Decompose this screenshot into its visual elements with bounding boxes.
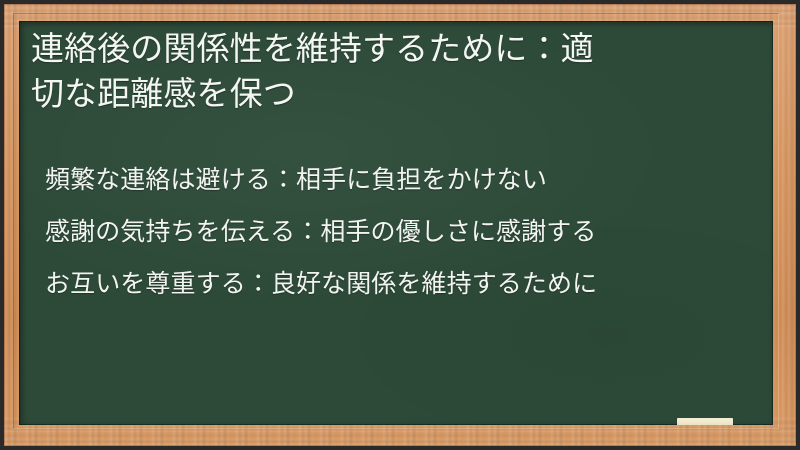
- slide-title-line-2: 切な距離感を保つ: [31, 74, 296, 113]
- bullet-item-1-label: 頻繁な連絡は避ける：相手に負担をかけない: [45, 167, 547, 192]
- slide-title-line-1: 連絡後の関係性を維持するために：適: [31, 29, 594, 68]
- bullet-item-2-label: 感謝の気持ちを伝える：相手の優しさに感謝する: [45, 219, 596, 244]
- chalk-piece-icon: [677, 418, 733, 425]
- bullet-item-3: お互いを尊重する：良好な関係を維持するために: [45, 257, 771, 309]
- bullet-item-2: 感謝の気持ちを伝える：相手の優しさに感謝する: [45, 205, 771, 257]
- slide-stage: 連絡後の関係性を維持するために：適切な距離感を保つ 頻繁な連絡は避ける：相手に負…: [0, 0, 800, 450]
- bullet-item-1: 頻繁な連絡は避ける：相手に負担をかけない: [45, 153, 771, 205]
- blackboard: 連絡後の関係性を維持するために：適切な距離感を保つ 頻繁な連絡は避ける：相手に負…: [19, 21, 773, 425]
- bullet-list: 頻繁な連絡は避ける：相手に負担をかけない 感謝の気持ちを伝える：相手の優しさに感…: [45, 153, 771, 309]
- slide-title: 連絡後の関係性を維持するために：適切な距離感を保つ: [31, 27, 771, 117]
- bullet-item-3-label: お互いを尊重する：良好な関係を維持するために: [45, 271, 597, 296]
